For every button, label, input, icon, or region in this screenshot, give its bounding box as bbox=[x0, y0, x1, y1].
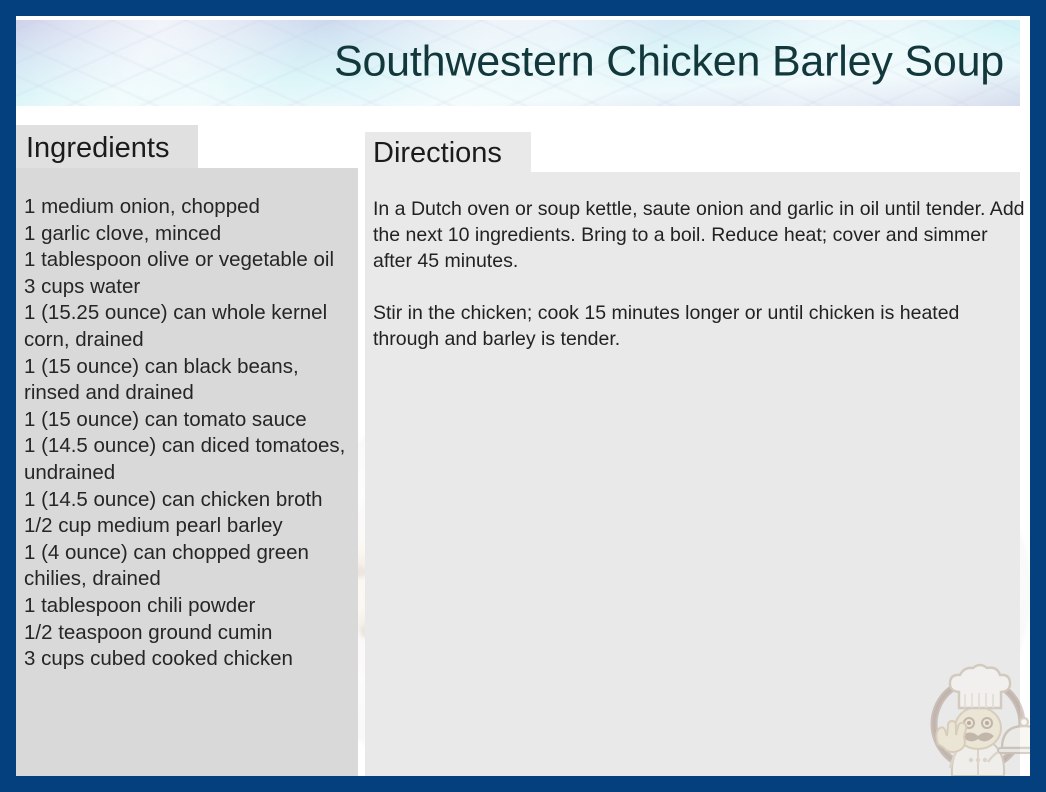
direction-paragraph: Stir in the chicken; cook 15 minutes lon… bbox=[373, 300, 1028, 352]
ingredient-item: 1 tablespoon olive or vegetable oil bbox=[24, 247, 360, 274]
ingredient-item: 1 (14.5 ounce) can chicken broth bbox=[24, 487, 360, 514]
directions-heading: Directions bbox=[373, 139, 502, 168]
ingredient-item: 3 cups water bbox=[24, 274, 360, 301]
title-banner: Southwestern Chicken Barley Soup bbox=[16, 20, 1020, 106]
ingredient-item: 1 tablespoon chili powder bbox=[24, 593, 360, 620]
ingredient-item: 1/2 cup medium pearl barley bbox=[24, 513, 360, 540]
ingredient-item: 3 cups cubed cooked chicken bbox=[24, 646, 360, 673]
ingredient-item: 1 (14.5 ounce) can diced tomatoes, undra… bbox=[24, 433, 360, 486]
ingredients-heading: Ingredients bbox=[26, 134, 170, 163]
ingredient-item: 1 medium onion, chopped bbox=[24, 194, 360, 221]
ingredient-item: 1 (15 ounce) can black beans, rinsed and… bbox=[24, 354, 360, 407]
ingredient-item: 1 garlic clove, minced bbox=[24, 221, 360, 248]
ingredients-list: 1 medium onion, chopped1 garlic clove, m… bbox=[24, 194, 360, 673]
page-title: Southwestern Chicken Barley Soup bbox=[334, 41, 1004, 84]
ingredient-item: 1 (15.25 ounce) can whole kernel corn, d… bbox=[24, 300, 360, 353]
directions-body: In a Dutch oven or soup kettle, saute on… bbox=[373, 196, 1028, 352]
ingredient-item: 1/2 teaspoon ground cumin bbox=[24, 620, 360, 647]
direction-paragraph: In a Dutch oven or soup kettle, saute on… bbox=[373, 196, 1028, 274]
ingredient-item: 1 (15 ounce) can tomato sauce bbox=[24, 407, 360, 434]
ingredient-item: 1 (4 ounce) can chopped green chilies, d… bbox=[24, 540, 360, 593]
recipe-card: Southwestern Chicken Barley Soup bbox=[0, 0, 1046, 792]
